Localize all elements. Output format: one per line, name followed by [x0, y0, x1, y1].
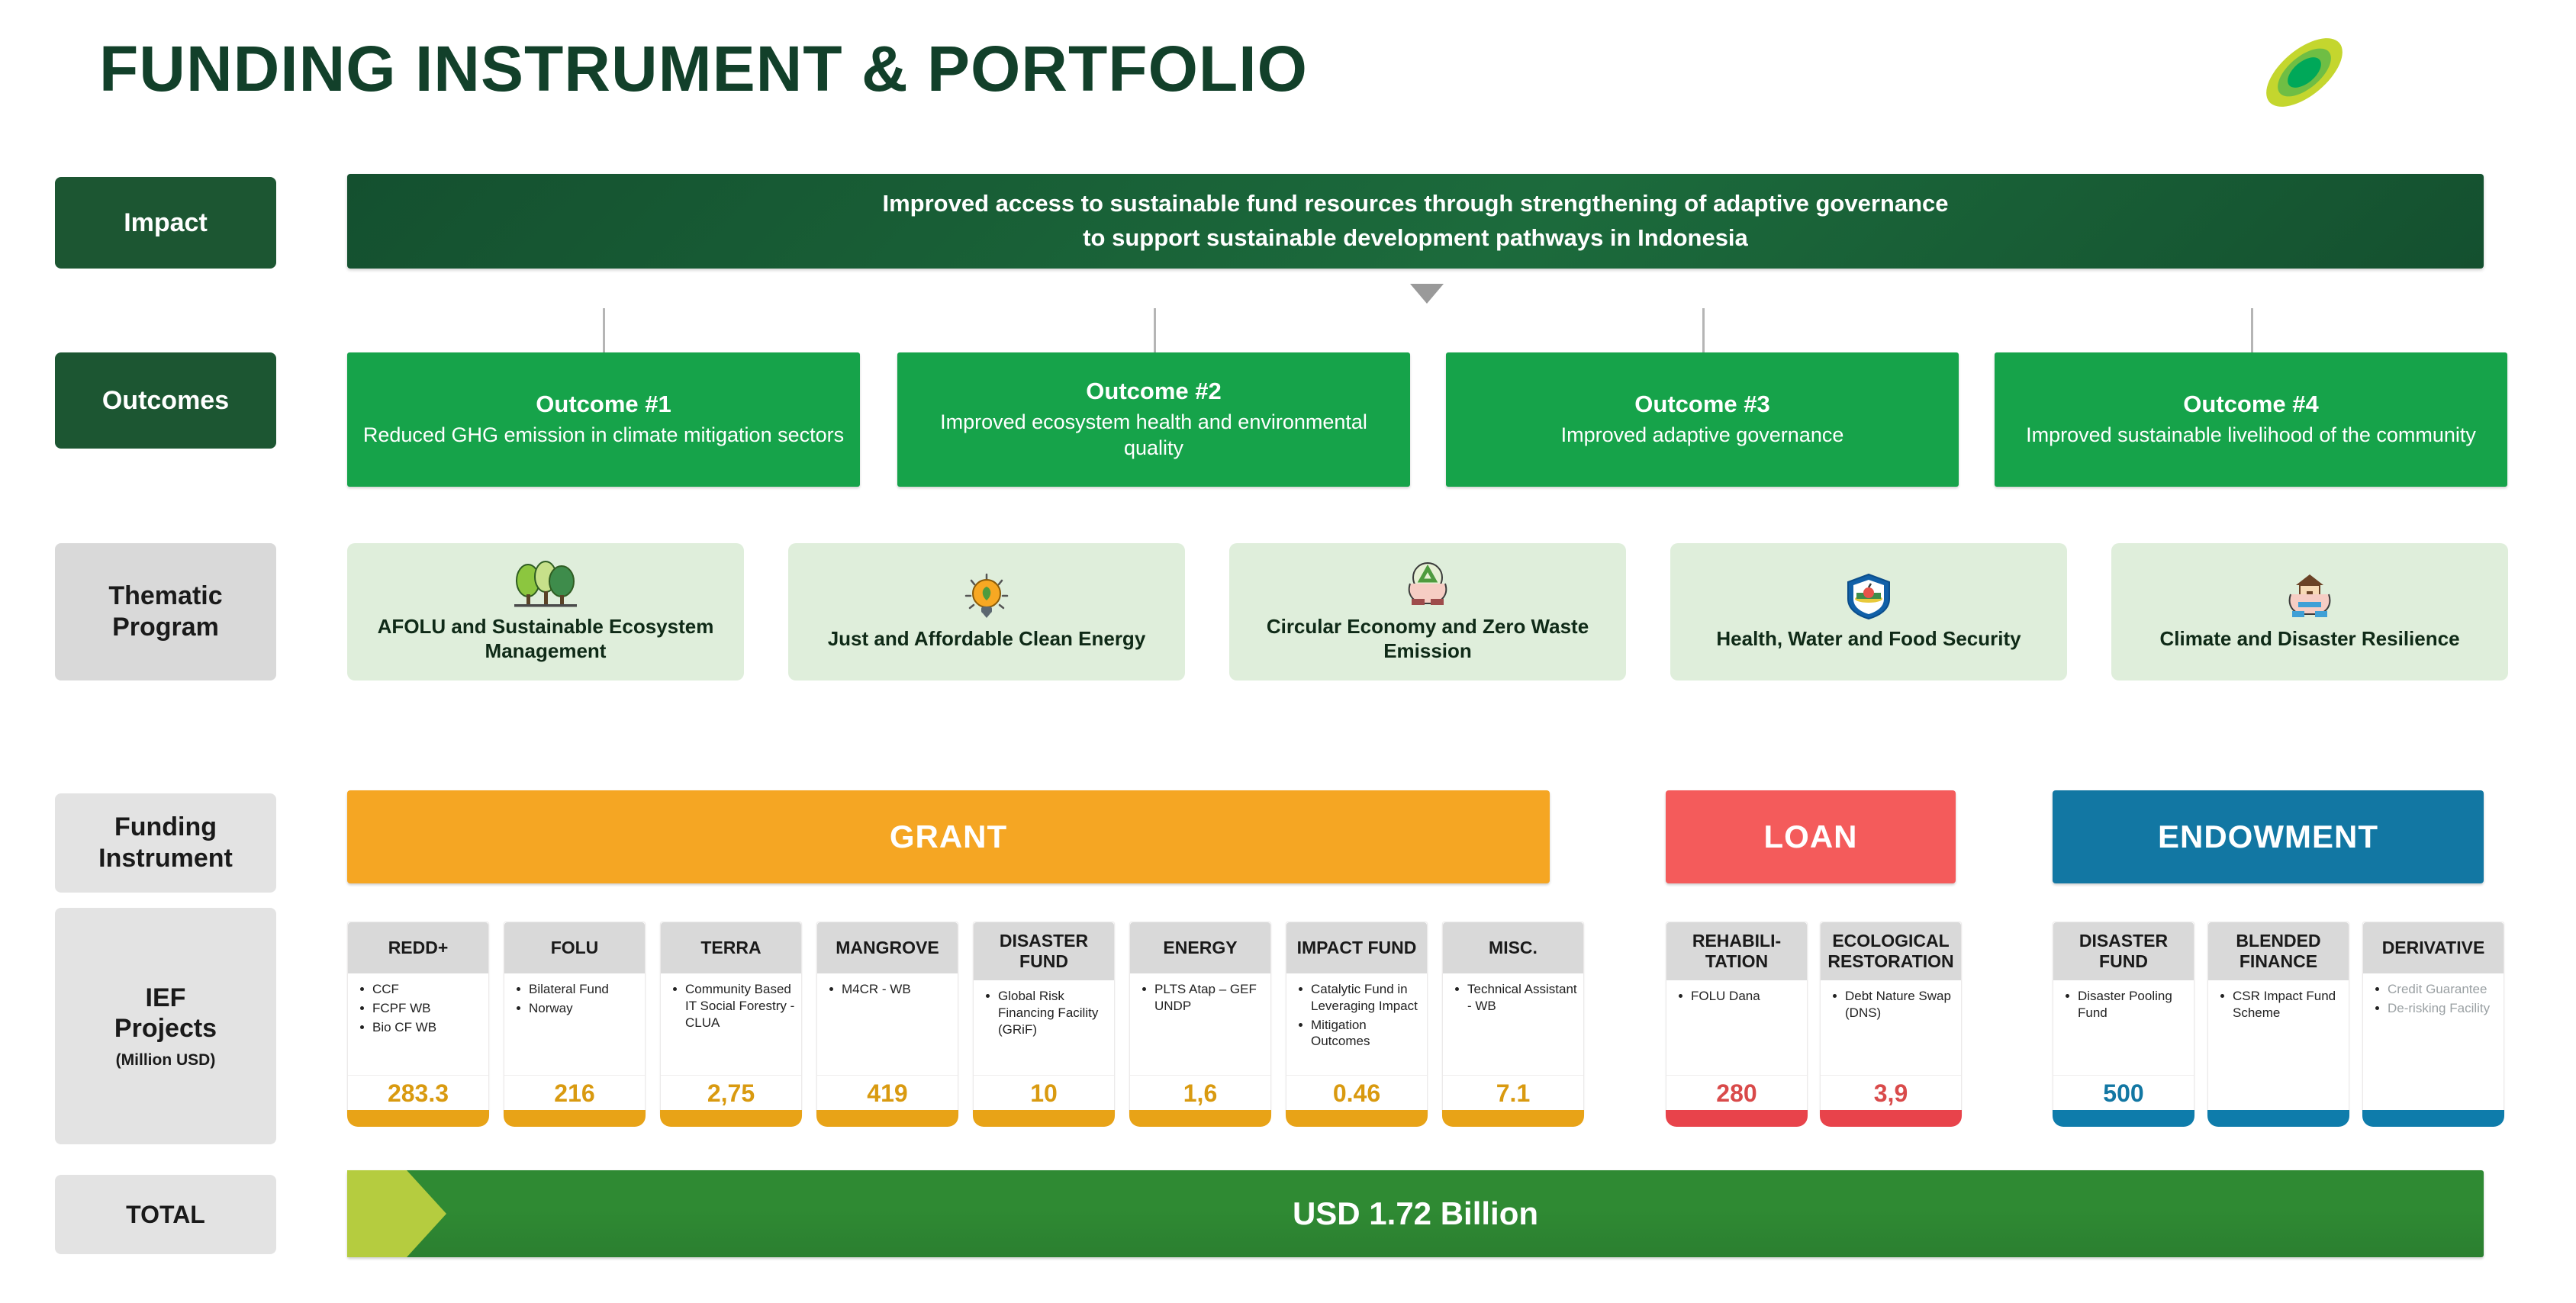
list-item: M4CR - WB: [840, 981, 953, 998]
outcome-title: Outcome #3: [1634, 391, 1769, 418]
row-label-ief-projects: IEF Projects (Million USD): [55, 908, 276, 1144]
thematic-card-afolu[interactable]: AFOLU and Sustainable Ecosystem Manageme…: [347, 543, 744, 680]
row-label-outcomes-text: Outcomes: [102, 385, 229, 417]
row-label-ief-sub: (Million USD): [116, 1050, 216, 1070]
thematic-card-health[interactable]: Health, Water and Food Security: [1670, 543, 2067, 680]
project-footer-bar: [1286, 1110, 1428, 1127]
leaf-logo: [2255, 31, 2354, 114]
project-card-blended-finance[interactable]: BLENDED FINANCE CSR Impact Fund Scheme: [2207, 922, 2349, 1115]
row-label-thematic-program: Thematic Program: [55, 543, 276, 680]
project-head: ENERGY: [1130, 922, 1270, 973]
project-card-rehabilitation[interactable]: REHABILI-TATION FOLU Dana 280: [1666, 922, 1808, 1115]
instrument-label: GRANT: [890, 819, 1007, 855]
project-body: Disaster Pooling Fund: [2053, 980, 2194, 1075]
project-footer-bar: [816, 1110, 958, 1127]
row-label-impact-text: Impact: [124, 208, 208, 239]
project-value: 500: [2053, 1075, 2194, 1115]
outcome-card-4[interactable]: Outcome #4 Improved sustainable liveliho…: [1995, 352, 2507, 487]
instrument-label: ENDOWMENT: [2158, 819, 2378, 855]
project-items: Catalytic Fund in Leveraging Impact Miti…: [1294, 981, 1422, 1050]
project-head: BLENDED FINANCE: [2208, 922, 2349, 980]
thematic-label: Circular Economy and Zero Waste Emission: [1237, 614, 1618, 664]
list-item: Disaster Pooling Fund: [2076, 988, 2189, 1021]
project-head: TERRA: [661, 922, 801, 973]
list-item: Catalytic Fund in Leveraging Impact: [1309, 981, 1422, 1015]
list-item: CSR Impact Fund Scheme: [2231, 988, 2344, 1021]
project-items: Global Risk Financing Facility (GRiF): [981, 988, 1109, 1038]
list-item: Mitigation Outcomes: [1309, 1017, 1422, 1050]
project-body: Community Based IT Social Forestry - CLU…: [661, 973, 801, 1075]
project-body: PLTS Atap – GEF UNDP: [1130, 973, 1270, 1075]
impact-line-2: to support sustainable development pathw…: [1083, 221, 1748, 256]
total-chevron-icon: [347, 1170, 446, 1257]
project-body: Catalytic Fund in Leveraging Impact Miti…: [1286, 973, 1427, 1075]
total-bar: USD 1.72 Billion: [347, 1170, 2484, 1257]
project-footer-bar: [2207, 1110, 2349, 1127]
impact-down-caret-icon: [1410, 284, 1444, 304]
project-value: 3,9: [1821, 1075, 1961, 1115]
project-footer-bar: [504, 1110, 646, 1127]
project-items: Debt Nature Swap (DNS): [1828, 988, 1956, 1021]
outcome-title: Outcome #2: [1086, 378, 1221, 405]
project-card-disaster-fund-endowment[interactable]: DISASTER FUND Disaster Pooling Fund 500: [2053, 922, 2194, 1115]
list-item: Bio CF WB: [371, 1019, 484, 1036]
project-card-derivative[interactable]: DERIVATIVE Credit Guarantee De-risking F…: [2362, 922, 2504, 1115]
outcome-description: Improved ecosystem health and environmen…: [908, 410, 1399, 462]
hands-house-icon: [2283, 573, 2336, 620]
project-head: REDD+: [348, 922, 488, 973]
impact-line-1: Improved access to sustainable fund reso…: [882, 187, 1948, 221]
outcome-card-1[interactable]: Outcome #1 Reduced GHG emission in clima…: [347, 352, 860, 487]
project-items: PLTS Atap – GEF UNDP: [1138, 981, 1266, 1015]
project-footer-bar: [2362, 1110, 2504, 1127]
project-head: ECOLOGICAL RESTORATION: [1821, 922, 1961, 980]
project-card-impact-fund[interactable]: IMPACT FUND Catalytic Fund in Leveraging…: [1286, 922, 1428, 1115]
list-item: Bilateral Fund: [527, 981, 640, 998]
project-items: Credit Guarantee De-risking Facility: [2371, 981, 2499, 1017]
project-value: 7.1: [1443, 1075, 1583, 1115]
project-footer-bar: [1129, 1110, 1271, 1127]
row-label-total-text: TOTAL: [126, 1200, 205, 1229]
project-footer-bar: [1666, 1110, 1808, 1127]
list-item: De-risking Facility: [2386, 1000, 2499, 1017]
project-footer-bar: [1442, 1110, 1584, 1127]
project-items: Disaster Pooling Fund: [2061, 988, 2189, 1021]
project-value: 1,6: [1130, 1075, 1270, 1115]
connector-outcome-1: [603, 308, 605, 352]
list-item: FOLU Dana: [1689, 988, 1802, 1005]
project-body: CSR Impact Fund Scheme: [2208, 980, 2349, 1104]
project-footer-bar: [973, 1110, 1115, 1127]
row-label-ief-text: IEF Projects: [114, 983, 217, 1045]
connector-outcome-2: [1154, 308, 1156, 352]
thematic-label: AFOLU and Sustainable Ecosystem Manageme…: [355, 614, 736, 664]
project-value: 283.3: [348, 1075, 488, 1115]
row-label-total: TOTAL: [55, 1175, 276, 1254]
project-footer-bar: [347, 1110, 489, 1127]
project-body: Bilateral Fund Norway: [504, 973, 645, 1075]
thematic-card-circular[interactable]: Circular Economy and Zero Waste Emission: [1229, 543, 1626, 680]
project-body: Global Risk Financing Facility (GRiF): [974, 980, 1114, 1075]
project-card-terra[interactable]: TERRA Community Based IT Social Forestry…: [660, 922, 802, 1115]
instrument-label: LOAN: [1764, 819, 1858, 855]
slide-canvas: FUNDING INSTRUMENT & PORTFOLIO Impact Im…: [0, 0, 2576, 1303]
project-value: 10: [974, 1075, 1114, 1115]
project-items: M4CR - WB: [825, 981, 953, 998]
outcome-title: Outcome #1: [536, 391, 671, 418]
project-card-redd[interactable]: REDD+ CCF FCPF WB Bio CF WB 283.3: [347, 922, 489, 1115]
outcome-title: Outcome #4: [2183, 391, 2318, 418]
project-body: M4CR - WB: [817, 973, 958, 1075]
thematic-card-resilience[interactable]: Climate and Disaster Resilience: [2111, 543, 2508, 680]
project-head: MISC.: [1443, 922, 1583, 973]
project-items: Technical Assistant - WB: [1451, 981, 1579, 1015]
connector-outcome-3: [1702, 308, 1705, 352]
row-label-funding-instrument: Funding Instrument: [55, 793, 276, 893]
project-head: DISASTER FUND: [974, 922, 1114, 980]
project-body: FOLU Dana: [1666, 980, 1807, 1075]
hands-recycle-icon: [1401, 561, 1454, 608]
thematic-label: Climate and Disaster Resilience: [2159, 626, 2459, 651]
outcome-description: Improved adaptive governance: [1561, 423, 1844, 449]
project-card-folu[interactable]: FOLU Bilateral Fund Norway 216: [504, 922, 646, 1115]
project-card-ecological-restoration[interactable]: ECOLOGICAL RESTORATION Debt Nature Swap …: [1820, 922, 1962, 1115]
forest-trees-icon: [511, 561, 580, 608]
project-items: CCF FCPF WB Bio CF WB: [356, 981, 484, 1035]
project-body: Debt Nature Swap (DNS): [1821, 980, 1961, 1075]
list-item: Norway: [527, 1000, 640, 1017]
list-item: PLTS Atap – GEF UNDP: [1153, 981, 1266, 1015]
row-label-outcomes: Outcomes: [55, 352, 276, 449]
project-card-misc[interactable]: MISC. Technical Assistant - WB 7.1: [1442, 922, 1584, 1115]
row-label-funding-text: Funding Instrument: [98, 812, 233, 874]
project-head: MANGROVE: [817, 922, 958, 973]
page-title: FUNDING INSTRUMENT & PORTFOLIO: [99, 32, 1308, 106]
project-card-disaster-fund-grant[interactable]: DISASTER FUND Global Risk Financing Faci…: [973, 922, 1115, 1115]
project-body: CCF FCPF WB Bio CF WB: [348, 973, 488, 1075]
thematic-label: Health, Water and Food Security: [1716, 626, 2021, 651]
thematic-label: Just and Affordable Clean Energy: [828, 626, 1146, 651]
lightbulb-leaf-icon: [960, 573, 1013, 620]
list-item: CCF: [371, 981, 484, 998]
project-items: FOLU Dana: [1674, 988, 1802, 1005]
project-head: REHABILI-TATION: [1666, 922, 1807, 980]
project-items: Community Based IT Social Forestry - CLU…: [668, 981, 797, 1031]
project-head: DISASTER FUND: [2053, 922, 2194, 980]
instrument-bar-grant[interactable]: GRANT: [347, 790, 1550, 883]
project-footer-bar: [660, 1110, 802, 1127]
list-item: Technical Assistant - WB: [1466, 981, 1579, 1015]
list-item: FCPF WB: [371, 1000, 484, 1017]
project-value: 0.46: [1286, 1075, 1427, 1115]
project-body: Technical Assistant - WB: [1443, 973, 1583, 1075]
total-amount: USD 1.72 Billion: [1293, 1195, 1538, 1232]
outcome-card-2[interactable]: Outcome #2 Improved ecosystem health and…: [897, 352, 1410, 487]
project-card-energy[interactable]: ENERGY PLTS Atap – GEF UNDP 1,6: [1129, 922, 1271, 1115]
project-items: Bilateral Fund Norway: [512, 981, 640, 1017]
list-item: Community Based IT Social Forestry - CLU…: [684, 981, 797, 1031]
list-item: Global Risk Financing Facility (GRiF): [997, 988, 1109, 1038]
project-value: 216: [504, 1075, 645, 1115]
instrument-bar-endowment[interactable]: ENDOWMENT: [2053, 790, 2484, 883]
outcome-description: Improved sustainable livelihood of the c…: [2026, 423, 2476, 449]
project-items: CSR Impact Fund Scheme: [2216, 988, 2344, 1021]
project-footer-bar: [1820, 1110, 1962, 1127]
impact-statement-bar: Improved access to sustainable fund reso…: [347, 174, 2484, 269]
list-item: Credit Guarantee: [2386, 981, 2499, 998]
thematic-card-energy[interactable]: Just and Affordable Clean Energy: [788, 543, 1185, 680]
outcome-description: Reduced GHG emission in climate mitigati…: [363, 423, 844, 449]
project-head: FOLU: [504, 922, 645, 973]
connector-outcome-4: [2251, 308, 2253, 352]
project-value: 280: [1666, 1075, 1807, 1115]
project-value: 2,75: [661, 1075, 801, 1115]
project-head: IMPACT FUND: [1286, 922, 1427, 973]
project-body: Credit Guarantee De-risking Facility: [2363, 973, 2504, 1104]
project-head: DERIVATIVE: [2363, 922, 2504, 973]
shield-food-icon: [1845, 573, 1892, 620]
row-label-thematic-text: Thematic Program: [108, 581, 222, 643]
project-card-mangrove[interactable]: MANGROVE M4CR - WB 419: [816, 922, 958, 1115]
list-item: Debt Nature Swap (DNS): [1843, 988, 1956, 1021]
instrument-bar-loan[interactable]: LOAN: [1666, 790, 1956, 883]
project-value: 419: [817, 1075, 958, 1115]
outcome-card-3[interactable]: Outcome #3 Improved adaptive governance: [1446, 352, 1959, 487]
row-label-impact: Impact: [55, 177, 276, 269]
project-footer-bar: [2053, 1110, 2194, 1127]
